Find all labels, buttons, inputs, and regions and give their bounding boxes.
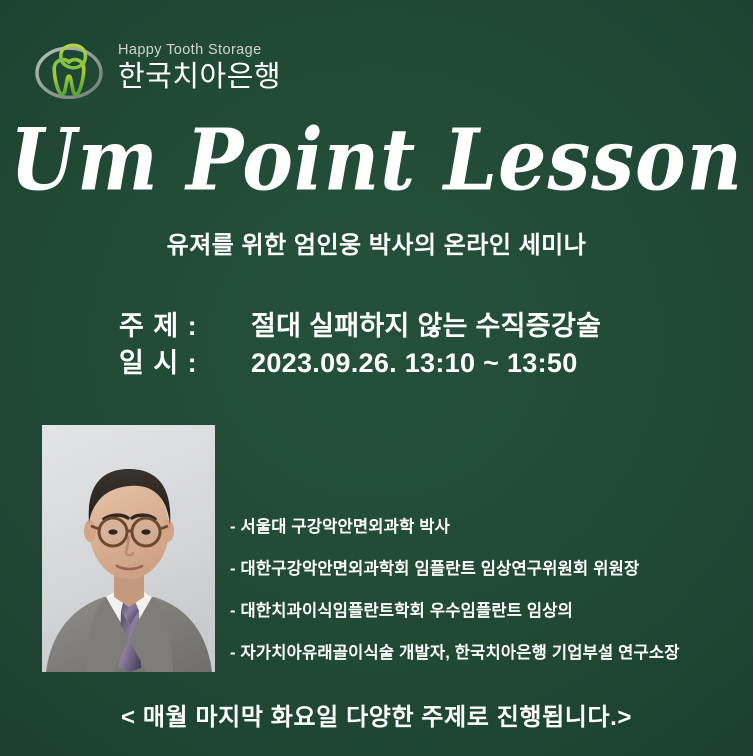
recurring-schedule-note: < 매월 마지막 화요일 다양한 주제로 진행됩니다.>	[0, 697, 753, 732]
bio-line: - 대한구강악안면외과학회 임플란트 임상연구위원회 위원장	[230, 548, 680, 590]
speaker-bio-list: - 서울대 구강악안면외과학 박사 - 대한구강악안면외과학회 임플란트 임상연…	[230, 506, 680, 674]
info-row-datetime: 일 시 : 2023.09.26. 13:10 ~ 13:50	[119, 345, 601, 382]
info-label-datetime: 일 시 :	[119, 345, 251, 382]
brand-name: 한국치아은행	[118, 61, 281, 94]
tooth-in-oval-logo-icon	[28, 26, 110, 108]
speaker-photo	[42, 425, 215, 672]
brand-logo: Happy Tooth Storage 한국치아은행	[28, 26, 281, 108]
poster-title: Um Point Lesson	[0, 118, 753, 203]
info-row-subject: 주 제 : 절대 실패하지 않는 수직증강술	[119, 308, 601, 345]
seminar-poster: Happy Tooth Storage 한국치아은행 Um Point Less…	[0, 0, 753, 756]
poster-subtitle: 유져를 위한 엄인웅 박사의 온라인 세미나	[0, 225, 753, 260]
info-value-subject: 절대 실패하지 않는 수직증강술	[251, 308, 601, 345]
seminar-info: 주 제 : 절대 실패하지 않는 수직증강술 일 시 : 2023.09.26.…	[119, 308, 601, 383]
brand-logo-text: Happy Tooth Storage 한국치아은행	[118, 39, 281, 94]
info-label-subject: 주 제 :	[119, 308, 251, 345]
bio-line: - 서울대 구강악안면외과학 박사	[230, 506, 680, 548]
bio-line: - 대한치과이식임플란트학회 우수임플란트 임상의	[230, 590, 680, 632]
brand-tagline: Happy Tooth Storage	[118, 43, 281, 59]
bio-line: - 자가치아유래골이식술 개발자, 한국치아은행 기업부설 연구소장	[230, 632, 680, 674]
info-value-datetime: 2023.09.26. 13:10 ~ 13:50	[251, 345, 578, 382]
